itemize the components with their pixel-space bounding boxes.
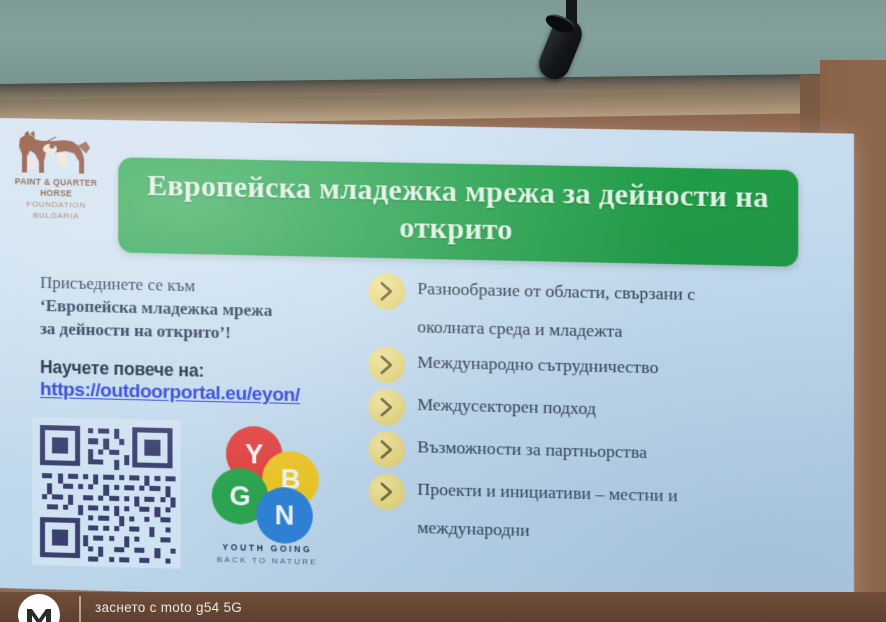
- list-item: Разнообразие от области, свързани с: [369, 271, 819, 319]
- chevron-right-icon: [369, 473, 406, 510]
- list-item: Междусекторен подход: [369, 387, 819, 436]
- outdoorportal-link[interactable]: https://outdoorportal.eu/eyon/: [40, 379, 300, 407]
- list-item-continuation: околната среда и младежта: [417, 314, 819, 348]
- ygn-logo: Y B G N YOUTH GOING BACK TO NATURE: [206, 423, 329, 567]
- page-title: Европейска младежка мрежа за дейности на…: [118, 157, 798, 254]
- qr-code[interactable]: [32, 417, 181, 569]
- list-item-label: Разнообразие от области, свързани с: [417, 272, 695, 307]
- org-logo-line1: PAINT & QUARTER HORSE: [15, 176, 97, 198]
- projected-slide: PAINT & QUARTER HORSE FOUNDATION BULGARI…: [0, 118, 854, 612]
- bullet-list: Разнообразие от области, свързани с окол…: [369, 271, 819, 557]
- list-item-label: Проекти и инициативи – местни и: [417, 473, 677, 509]
- left-column: Присъединете се към ‘Европейска младежка…: [40, 271, 347, 408]
- chevron-right-icon: [369, 273, 406, 310]
- chevron-right-icon: [369, 346, 406, 383]
- slide-title-box: Европейска младежка мрежа за дейности на…: [118, 157, 798, 266]
- list-item-label: Международно сътрудничество: [417, 345, 658, 380]
- ygn-circle-n: N: [256, 487, 313, 545]
- org-logo-line2: FOUNDATION BULGARIA: [26, 200, 85, 221]
- list-item: Проекти и инициативи – местни и: [369, 471, 819, 521]
- qr-code-icon[interactable]: [32, 417, 181, 569]
- join-paragraph: Присъединете се към ‘Европейска младежка…: [40, 271, 347, 347]
- list-item-label: Възможности за партньорства: [417, 430, 647, 465]
- photo-of-projected-slide: PAINT & QUARTER HORSE FOUNDATION BULGARI…: [0, 0, 886, 622]
- list-item: Възможности за партньорства: [369, 429, 819, 479]
- watermark-divider: [79, 596, 81, 622]
- ygn-tagline-2: BACK TO NATURE: [206, 555, 329, 567]
- org-logo: PAINT & QUARTER HORSE FOUNDATION BULGARI…: [6, 128, 104, 208]
- watermark-text: заснето с moto g54 5G: [95, 600, 242, 615]
- list-item-continuation: международни: [417, 515, 819, 551]
- list-item-label: Междусекторен подход: [417, 388, 596, 422]
- list-item: Международно сътрудничество: [369, 344, 819, 393]
- chevron-right-icon: [369, 389, 406, 426]
- horse-icon: [6, 128, 104, 180]
- join-line-1: Присъединете се към: [40, 273, 195, 295]
- chevron-right-icon: [369, 431, 406, 468]
- org-logo-caption: PAINT & QUARTER HORSE FOUNDATION BULGARI…: [10, 176, 102, 222]
- ygn-tagline-1: YOUTH GOING: [206, 541, 329, 554]
